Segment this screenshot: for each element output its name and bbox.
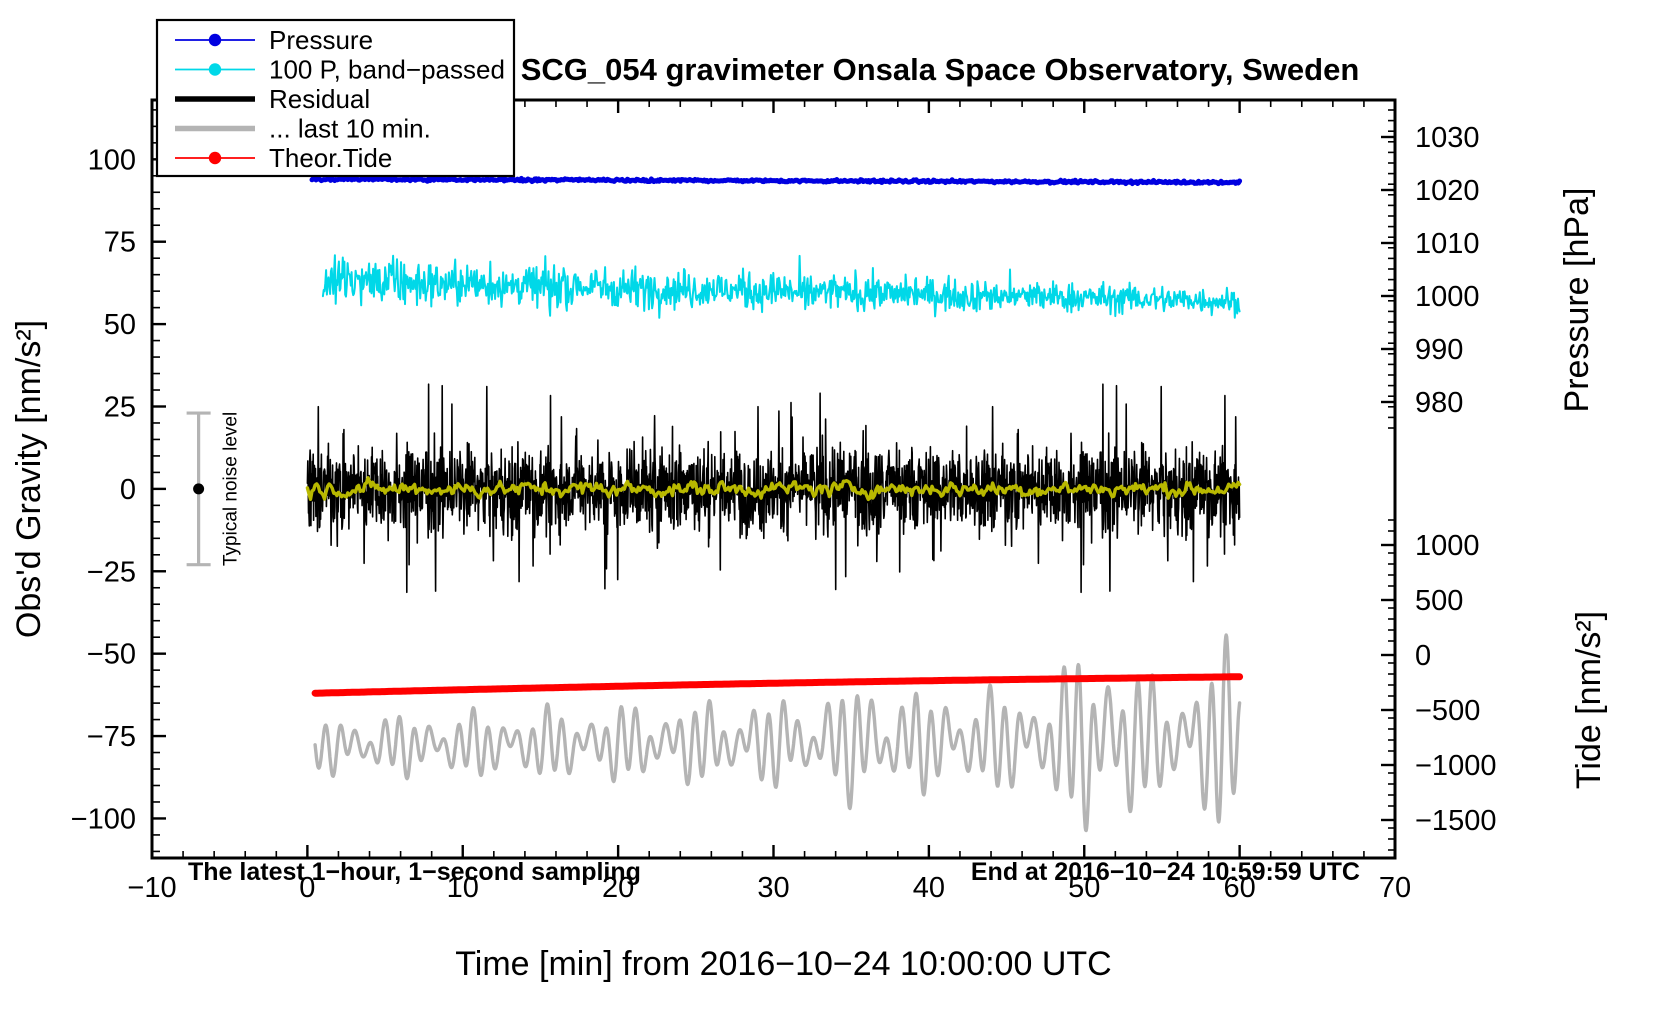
chart-screenshot: −10010203040506070Time [min] from 2016−1…: [0, 0, 1660, 1020]
y-tick-label: 25: [104, 391, 136, 423]
theor-tide-line: [315, 677, 1240, 694]
y-tick-label: −50: [87, 639, 136, 671]
tide-tick-label: 1000: [1415, 530, 1480, 562]
pressure-tick-label: 1020: [1415, 175, 1480, 207]
legend-marker-2: [209, 63, 221, 75]
page-title: SCG_054 gravimeter Onsala Space Observat…: [521, 52, 1360, 87]
annotation-end-time: End at 2016−10−24 10:59:59 UTC: [971, 858, 1360, 886]
noise-level-label: Typical noise level: [221, 412, 242, 566]
legend-label-5: Theor.Tide: [269, 143, 392, 173]
series-band-passed: [323, 255, 1240, 318]
pressure-tick-label: 980: [1415, 387, 1463, 419]
x-tick-label: 30: [757, 872, 789, 904]
y-axis-right-tide: 10005000−500−1000−1500: [1381, 520, 1496, 850]
tide-tick-label: −1500: [1415, 805, 1496, 837]
legend-label-4: ... last 10 min.: [269, 114, 431, 144]
pressure-line: [312, 178, 1240, 184]
last-10-min-line: [315, 635, 1240, 831]
series-pressure: [312, 178, 1240, 184]
y-tick-label: 75: [104, 227, 136, 259]
y-tick-label: 50: [104, 309, 136, 341]
series-last-10-min: [315, 635, 1240, 831]
pressure-tick-label: 990: [1415, 334, 1463, 366]
tide-tick-label: 0: [1415, 640, 1431, 672]
legend-marker-5: [209, 152, 221, 164]
y-tick-label: −75: [87, 721, 136, 753]
legend-label-2: 100 P, band−passed: [269, 55, 505, 85]
y-tick-label: −100: [71, 803, 136, 835]
legend: Pressure100 P, band−passedResidual... la…: [157, 20, 514, 176]
gravimeter-chart: −10010203040506070Time [min] from 2016−1…: [0, 0, 1660, 1020]
y-axis-right-tide-title: Tide [nm/s²]: [1570, 611, 1608, 789]
y-axis-left-title: Obs'd Gravity [nm/s²]: [10, 320, 48, 638]
tide-tick-label: −1000: [1415, 750, 1496, 782]
tide-tick-label: −500: [1415, 695, 1480, 727]
noise-level-indicator: Typical noise level: [187, 412, 242, 566]
noise-bar-center-dot: [193, 483, 204, 494]
x-tick-label: −10: [127, 872, 176, 904]
y-tick-label: 0: [120, 474, 136, 506]
series-theor-tide: [315, 677, 1240, 694]
pressure-tick-label: 1030: [1415, 122, 1480, 154]
pressure-tick-label: 1000: [1415, 281, 1480, 313]
y-tick-label: 100: [88, 144, 136, 176]
legend-label-3: Residual: [269, 84, 370, 114]
legend-label-1: Pressure: [269, 25, 373, 55]
x-tick-label: 40: [913, 872, 945, 904]
y-axis-right-pressure-title: Pressure [hPa]: [1558, 188, 1596, 413]
band-passed-line: [323, 255, 1240, 318]
tide-tick-label: 500: [1415, 585, 1463, 617]
legend-marker-1: [209, 34, 221, 46]
x-tick-label: 70: [1379, 872, 1411, 904]
annotation-sampling-info: The latest 1−hour, 1−second sampling: [188, 858, 641, 886]
x-axis-title: Time [min] from 2016−10−24 10:00:00 UTC: [455, 945, 1111, 983]
pressure-tick-label: 1010: [1415, 228, 1480, 260]
y-tick-label: −25: [87, 556, 136, 588]
